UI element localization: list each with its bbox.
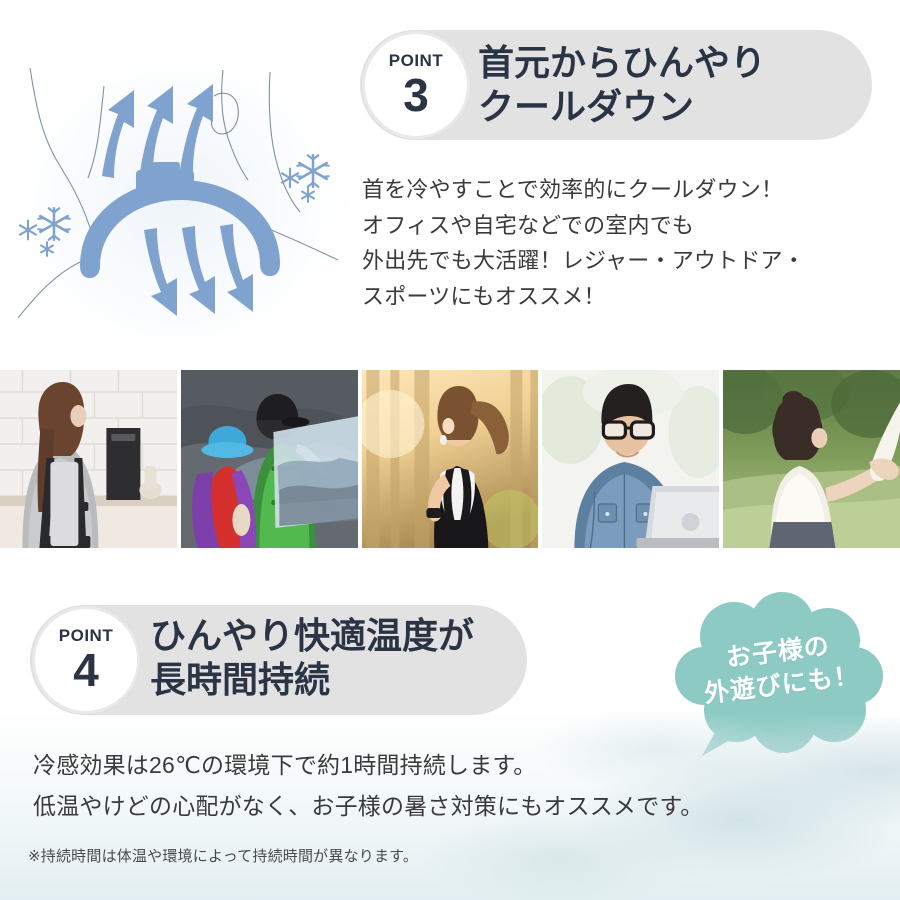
point-4-badge-word: POINT (59, 627, 113, 644)
neck-cooling-illustration (8, 28, 350, 348)
point-3-badge-number: 3 (403, 72, 429, 118)
photo-woman-running (362, 370, 539, 548)
point-3-title: 首元からひんやり クールダウン (478, 41, 766, 129)
photo-hikers-outdoor (181, 370, 358, 548)
photo-child-park (723, 370, 900, 548)
point-3-body-text: 首を冷やすことで効率的にクールダウン！ オフィスや自宅などでの室内でも 外出先で… (362, 172, 805, 315)
point-3-badge-word: POINT (389, 52, 443, 69)
child-outdoor-speech-bubble: お子様の 外遊びにも！ (672, 592, 888, 764)
photo-man-laptop (542, 370, 719, 548)
point-4-badge-number: 4 (73, 647, 99, 693)
point-4-title: ひんやり快適温度が 長時間持続 (150, 614, 474, 702)
lifestyle-photo-strip (0, 370, 900, 548)
point-3-badge: POINT 3 (362, 31, 470, 139)
product-feature-page: POINT 3 首元からひんやり クールダウン 首を冷やすことで効率的にクールダ… (0, 0, 900, 900)
point-4-body-text: 冷感効果は26℃の環境下で約1時間持続します。 低温やけどの心配がなく、お子様の… (33, 745, 704, 828)
point-4-badge: POINT 4 (32, 606, 140, 714)
point-4-footnote: ※持続時間は体温や環境によって持続時間が異なります。 (28, 845, 418, 866)
photo-woman-kitchen (0, 370, 177, 548)
